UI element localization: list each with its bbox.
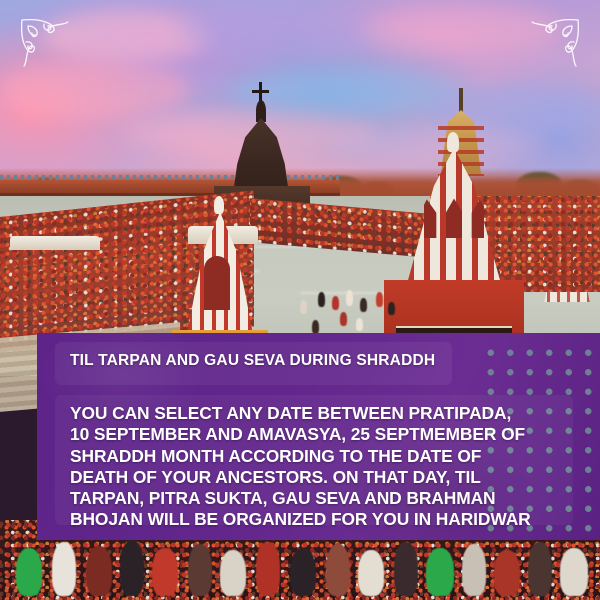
card-body-line: BHOJAN WILL BE ORGANIZED FOR YOU IN HARI…	[70, 509, 570, 530]
card-body-line: YOU CAN SELECT ANY DATE BETWEEN PRATIPAD…	[70, 403, 570, 424]
white-temple-arch	[204, 256, 230, 310]
red-temple-kalash	[447, 132, 459, 152]
card-body-line: 10 SEPTEMBER AND AMAVASYA, 25 SEPTMEMBER…	[70, 424, 570, 445]
card-body-line: DEATH OF YOUR ANCESTORS. ON THAT DAY, TI…	[70, 467, 570, 488]
info-card: TIL TARPAN AND GAU SEVA DURING SHRADDH Y…	[37, 333, 600, 540]
temple-finial	[252, 90, 269, 93]
card-body-line: SHRADDH MONTH ACCORDING TO THE DATE OF	[70, 446, 570, 467]
white-temple-kalash	[214, 196, 224, 214]
card-body-line: TARPAN, PITRA SUKTA, GAU SEVA AND BRAHMA…	[70, 488, 570, 509]
card-body: YOU CAN SELECT ANY DATE BETWEEN PRATIPAD…	[70, 403, 570, 531]
poster-canvas: TIL TARPAN AND GAU SEVA DURING SHRADDH Y…	[0, 0, 600, 600]
card-title: TIL TARPAN AND GAU SEVA DURING SHRADDH	[70, 352, 490, 370]
